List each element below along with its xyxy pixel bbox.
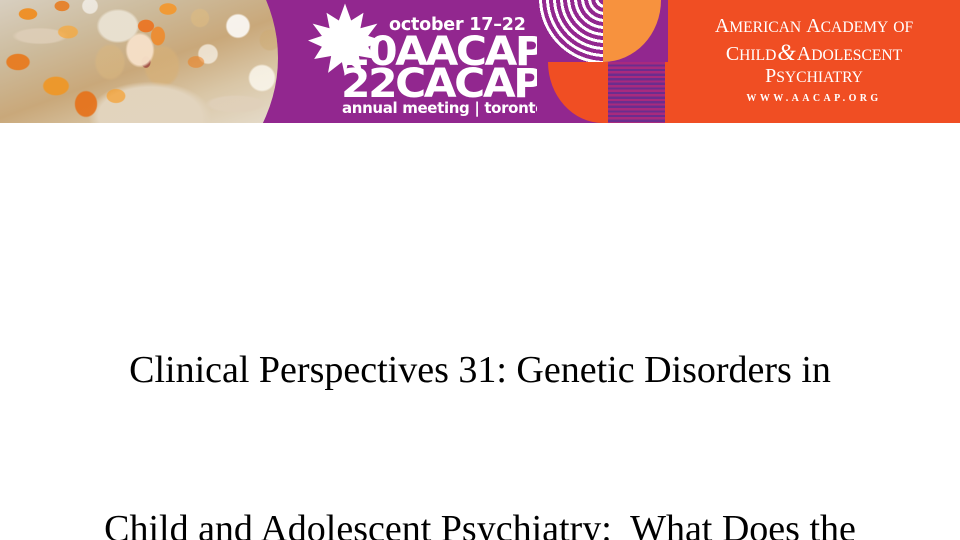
org-l1-d: CADEMY	[821, 19, 889, 36]
org-l2-c: A	[797, 43, 811, 65]
pattern-cell-top-left	[537, 0, 603, 62]
org-logo-line-3: PSYCHIATRY	[668, 65, 960, 88]
title-line-1: Clinical Perspectives 31: Genetic Disord…	[48, 344, 912, 397]
org-l1-c: A	[806, 15, 820, 37]
concentric-arcs-icon	[537, 0, 603, 62]
meeting-tagline: annual meeting | toronto	[342, 99, 545, 117]
ampersand-glyph: &	[776, 40, 796, 66]
pattern-cell-bottom-left	[537, 62, 603, 123]
slide-header-banner: october 17–22 20AACAP 22CACAP annual mee…	[0, 0, 960, 123]
aacap-cacap-meeting-logo: october 17–22 20AACAP 22CACAP annual mee…	[300, 0, 530, 123]
aacap-organization-logo: AMERICAN ACADEMY OF CHILD&ADOLESCENT PSY…	[668, 0, 960, 123]
slide-title: Clinical Perspectives 31: Genetic Disord…	[48, 238, 912, 540]
org-website-url: WWW.AACAP.ORG	[668, 93, 960, 104]
org-l2-d: DOLESCENT	[811, 47, 902, 64]
quarter-circle-orange-light-icon	[603, 0, 661, 62]
org-l1-a: A	[715, 15, 729, 37]
pattern-cell-top-right	[603, 0, 668, 62]
geometric-pattern-block	[537, 0, 668, 123]
quarter-circle-orange-red-icon	[548, 62, 603, 123]
meeting-logo-line-2: 22CACAP	[341, 64, 542, 104]
photo-image	[0, 0, 288, 123]
horizontal-stripes-icon	[608, 62, 665, 123]
org-logo-line-2: CHILD&ADOLESCENT	[668, 40, 960, 67]
org-l3-b: SYCHIATRY	[776, 69, 863, 86]
org-l2-b: HILD	[739, 47, 776, 64]
org-l1-e: OF	[893, 19, 913, 36]
org-l3-a: P	[765, 65, 776, 87]
pattern-cell-bottom-right	[603, 62, 668, 123]
org-logo-line-1: AMERICAN ACADEMY OF	[668, 15, 960, 38]
title-line-2: Child and Adolescent Psychiatry: What Do…	[48, 503, 912, 540]
autumn-child-photo	[0, 0, 288, 123]
org-l1-b: MERICAN	[729, 19, 801, 36]
org-l2-a: C	[726, 43, 739, 65]
presentation-slide: october 17–22 20AACAP 22CACAP annual mee…	[0, 0, 960, 540]
